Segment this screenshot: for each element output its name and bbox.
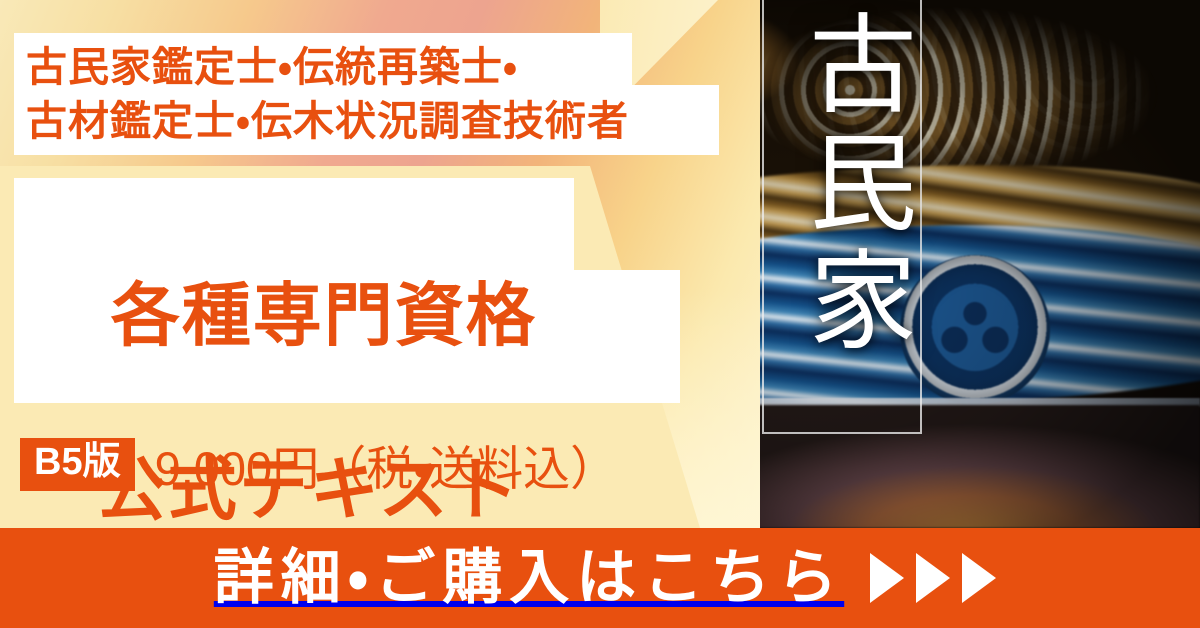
price-row: B5版 9,000円（税・送料込） bbox=[20, 430, 617, 499]
qualifications-card: 古民家鑑定士・伝統再築士・ 古材鑑定士・伝木状況調査技術者 bbox=[14, 33, 632, 155]
headline-line-1: 各種専門資格 bbox=[111, 277, 537, 354]
triangle-right-icon bbox=[916, 553, 950, 603]
book-title: 古民家 bbox=[770, 8, 916, 362]
triangle-right-icon bbox=[962, 553, 996, 603]
book-size-badge: B5版 bbox=[20, 438, 135, 491]
headline: 各種専門資格 公式テキスト bbox=[26, 186, 537, 628]
qualifications-line-1: 古民家鑑定士・伝統再築士・ bbox=[26, 40, 632, 94]
promo-banner: 古民家 伝統構法 古民家活用のための調査と再生の 古民家鑑定士・伝統再築士・ 古… bbox=[0, 0, 1200, 628]
price-amount: 9,000円（税・送料込） bbox=[155, 430, 618, 499]
qualifications-line-2: 古材鑑定士・伝木状況調査技術者 bbox=[26, 94, 632, 148]
triangle-right-icon bbox=[870, 553, 904, 603]
cta-arrows bbox=[870, 553, 996, 603]
